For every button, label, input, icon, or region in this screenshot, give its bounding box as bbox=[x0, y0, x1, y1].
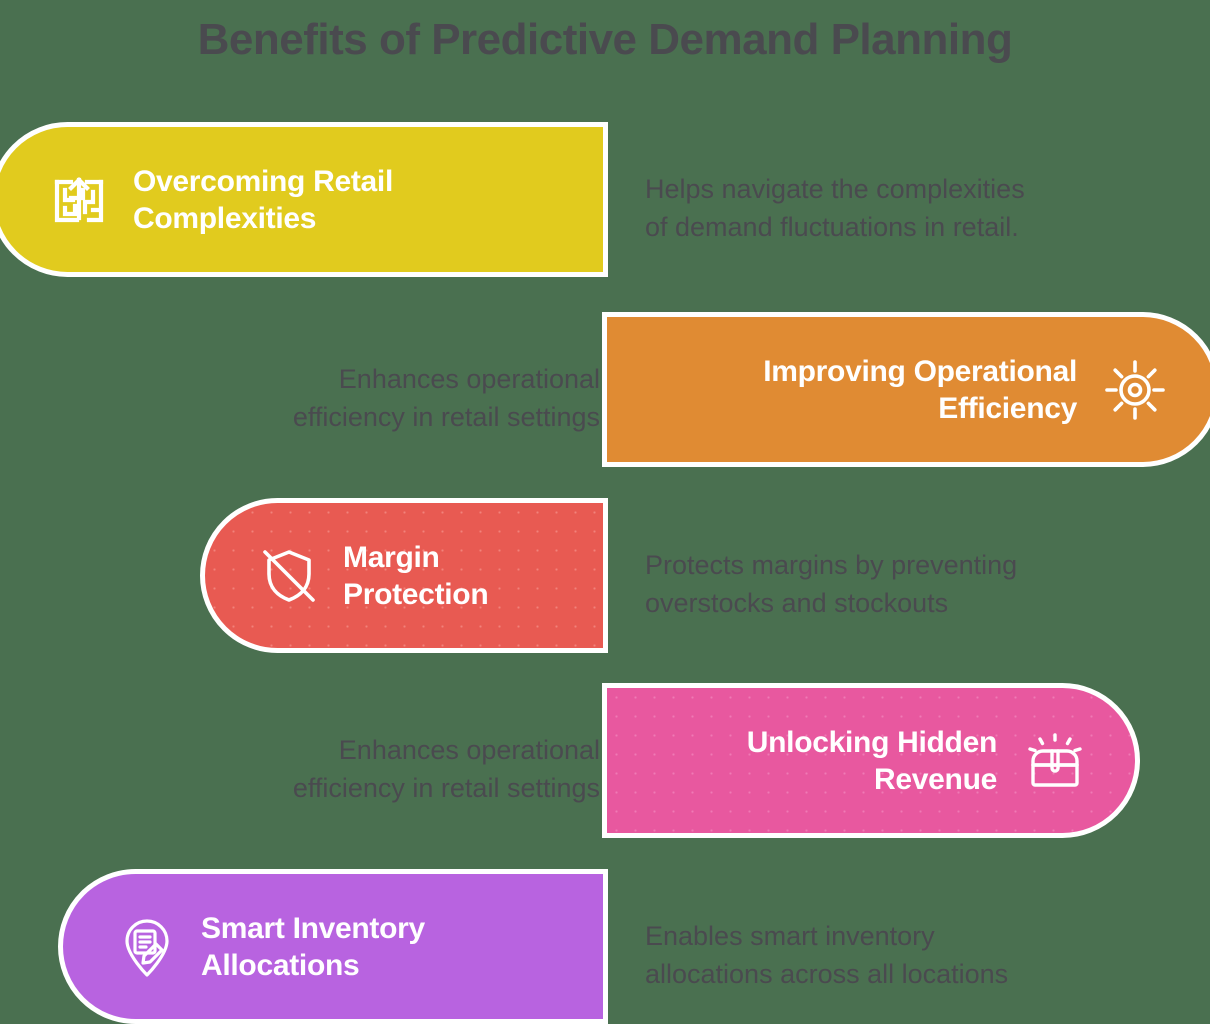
benefit-description-1: Helps navigate the complexities of deman… bbox=[645, 170, 1115, 246]
benefit-description-5: Enables smart inventory allocations acro… bbox=[645, 917, 1115, 993]
benefit-row-1: Overcoming Retail Complexities Helps nav… bbox=[0, 122, 1210, 282]
treasure-chest-icon bbox=[1023, 729, 1087, 793]
benefit-row-3: Margin Protection Protects margins by pr… bbox=[0, 498, 1210, 658]
benefit-row-2: Enhances operational efficiency in retai… bbox=[0, 312, 1210, 472]
benefit-pill-label: Overcoming Retail Complexities bbox=[133, 163, 393, 237]
benefit-pill-label: Unlocking Hidden Revenue bbox=[747, 724, 997, 798]
benefit-row-5: Smart Inventory Allocations Enables smar… bbox=[0, 869, 1210, 1024]
benefit-pill-smart-inventory-allocations[interactable]: Smart Inventory Allocations bbox=[58, 869, 608, 1024]
benefit-pill-improving-operational-efficiency[interactable]: Improving Operational Efficiency bbox=[602, 312, 1210, 467]
benefit-pill-overcoming-retail-complexities[interactable]: Overcoming Retail Complexities bbox=[0, 122, 608, 277]
benefit-pill-unlocking-hidden-revenue[interactable]: Unlocking Hidden Revenue bbox=[602, 683, 1140, 838]
page-title: Benefits of Predictive Demand Planning bbox=[0, 8, 1210, 72]
shield-slash-icon bbox=[257, 544, 321, 608]
benefit-pill-label: Margin Protection bbox=[343, 539, 488, 613]
benefit-description-3: Protects margins by preventing overstock… bbox=[645, 546, 1115, 622]
benefit-description-4: Enhances operational efficiency in retai… bbox=[130, 731, 600, 807]
map-pin-document-icon bbox=[115, 915, 179, 979]
benefit-pill-label: Improving Operational Efficiency bbox=[763, 353, 1077, 427]
benefit-pill-margin-protection[interactable]: Margin Protection bbox=[200, 498, 608, 653]
benefit-pill-label: Smart Inventory Allocations bbox=[201, 910, 425, 984]
benefit-description-2: Enhances operational efficiency in retai… bbox=[130, 360, 600, 436]
benefit-row-4: Enhances operational efficiency in retai… bbox=[0, 683, 1210, 843]
gear-sun-icon bbox=[1103, 358, 1167, 422]
maze-arrow-icon bbox=[47, 168, 111, 232]
